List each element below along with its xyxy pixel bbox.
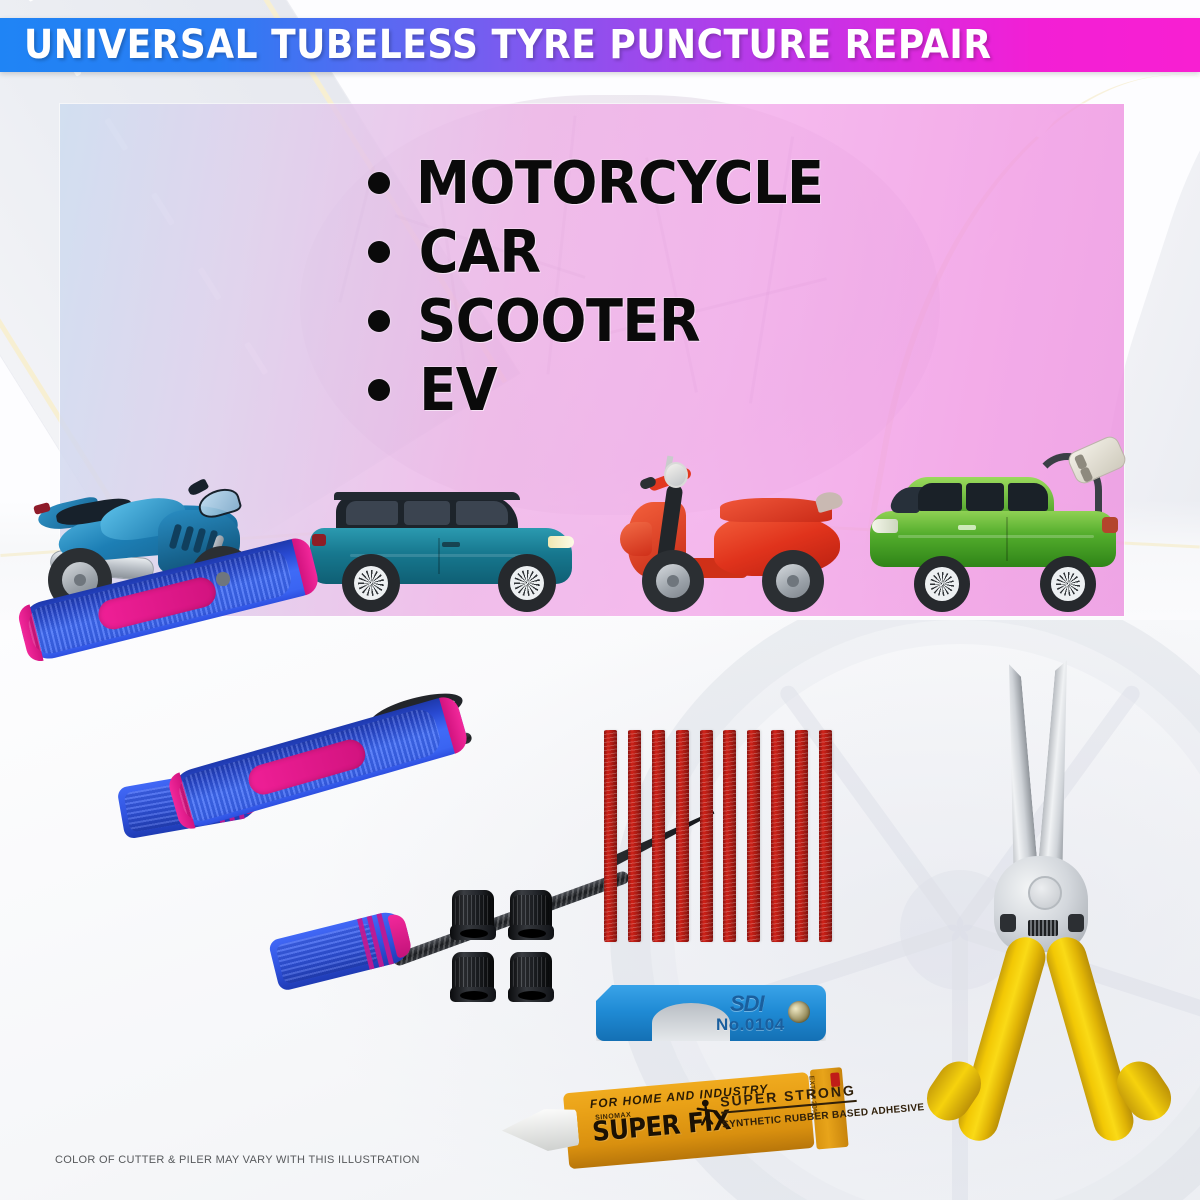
rubber-strip (795, 730, 808, 942)
valve-cap (510, 952, 552, 1002)
rear-wheel (1040, 556, 1096, 612)
needle-nose-pliers (900, 660, 1200, 1130)
rubber-strip (747, 730, 760, 942)
alloy-spokes (514, 570, 540, 596)
roof-rail (334, 492, 520, 500)
plug-prong (1080, 466, 1094, 482)
bullet-dot-icon (368, 310, 390, 332)
door-handle (442, 542, 460, 547)
alloy-spokes (1056, 572, 1081, 597)
cap-bore (460, 929, 488, 938)
product-advertisement: MOTORCYCLE CAR SCOOTER EV (0, 0, 1200, 1200)
vehicle-type-list: MOTORCYCLE CAR SCOOTER EV (368, 148, 1088, 424)
cutter-brand-label: SDI (730, 991, 764, 1017)
valve-caps-group (452, 890, 564, 1004)
plier-notch (1068, 914, 1084, 932)
air-vent (193, 528, 207, 554)
rubber-strip (819, 730, 832, 942)
door-handle (958, 525, 976, 530)
rubber-strip (723, 730, 736, 942)
bullet-dot-icon (368, 172, 390, 194)
blade-cutter: SDI No.0104 (596, 985, 826, 1041)
rubber-strip (604, 730, 617, 942)
body-crease (898, 535, 1094, 538)
scooter-illustration (610, 462, 846, 612)
valve-cap (452, 952, 494, 1002)
cap-knurl (455, 895, 491, 928)
rubber-strip (676, 730, 689, 942)
list-item-label: CAR (419, 222, 541, 281)
rubber-strip (771, 730, 784, 942)
list-item-label: MOTORCYCLE (416, 153, 823, 212)
window (1008, 483, 1048, 511)
front-wheel (642, 550, 704, 612)
list-item: MOTORCYCLE (368, 148, 1088, 217)
valve-cap (510, 890, 552, 940)
door-seam (438, 538, 440, 574)
window (918, 483, 962, 511)
lane-dash (11, 0, 35, 2)
front-apron (620, 522, 652, 556)
cap-knurl (455, 957, 491, 990)
alloy-spokes (930, 572, 955, 597)
ev-car-illustration (870, 447, 1120, 612)
rubber-strip (628, 730, 641, 942)
window (966, 483, 1004, 511)
list-item-label: SCOOTER (417, 291, 700, 350)
header-banner: UNIVERSAL TUBELESS TYRE PUNCTURE REPAIR (0, 18, 1200, 72)
headlight (548, 536, 574, 548)
glue-mascot-icon (694, 1098, 718, 1126)
charging-plug-icon (1065, 433, 1128, 486)
alloy-spokes (358, 570, 384, 596)
wheel-hub (216, 572, 229, 585)
valve-cap (452, 890, 494, 940)
window (456, 501, 508, 525)
list-item: CAR (368, 217, 1088, 286)
rear-wheel (762, 550, 824, 612)
car-illustration (310, 492, 578, 612)
window (346, 501, 398, 525)
hero-section: MOTORCYCLE CAR SCOOTER EV (0, 0, 1200, 620)
wheel-hub (74, 574, 87, 587)
plier-pivot (1028, 876, 1062, 910)
plier-notch (1000, 914, 1016, 932)
headlight (664, 462, 688, 488)
rubber-strip (652, 730, 665, 942)
front-wheel (914, 556, 970, 612)
cap-bore (460, 991, 488, 1000)
air-vent (181, 526, 195, 552)
page-title: UNIVERSAL TUBELESS TYRE PUNCTURE REPAIR (0, 22, 992, 68)
rubber-strip (700, 730, 713, 942)
cutter-model-label: No.0104 (716, 1015, 785, 1035)
cap-knurl (513, 957, 549, 990)
cap-bore (518, 929, 546, 938)
tool-neck (268, 908, 414, 992)
cutter-rivet (788, 1001, 810, 1023)
cap-knurl (513, 895, 549, 928)
rear-wheel (342, 554, 400, 612)
tail-light (312, 534, 326, 546)
wheel-hub (787, 575, 799, 587)
list-item: SCOOTER (368, 286, 1088, 355)
cap-bore (518, 991, 546, 1000)
wheel-hub (667, 575, 679, 587)
air-vent (169, 524, 183, 550)
list-item: EV (368, 355, 1088, 424)
tail-light (1102, 517, 1118, 533)
disclaimer-text: COLOR OF CUTTER & PILER MAY VARY WITH TH… (55, 1154, 420, 1166)
window (404, 501, 450, 525)
front-wheel (498, 554, 556, 612)
plier-handle (1042, 933, 1138, 1146)
list-item-label: EV (419, 360, 497, 419)
door-seam (1006, 517, 1008, 561)
headlight (872, 519, 898, 533)
seat-backrest (814, 489, 844, 513)
wire-cutter-notch (1028, 920, 1058, 936)
rubber-strips-group (604, 730, 832, 942)
bullet-dot-icon (368, 241, 390, 263)
bullet-dot-icon (368, 379, 390, 401)
plier-handle (954, 933, 1050, 1146)
